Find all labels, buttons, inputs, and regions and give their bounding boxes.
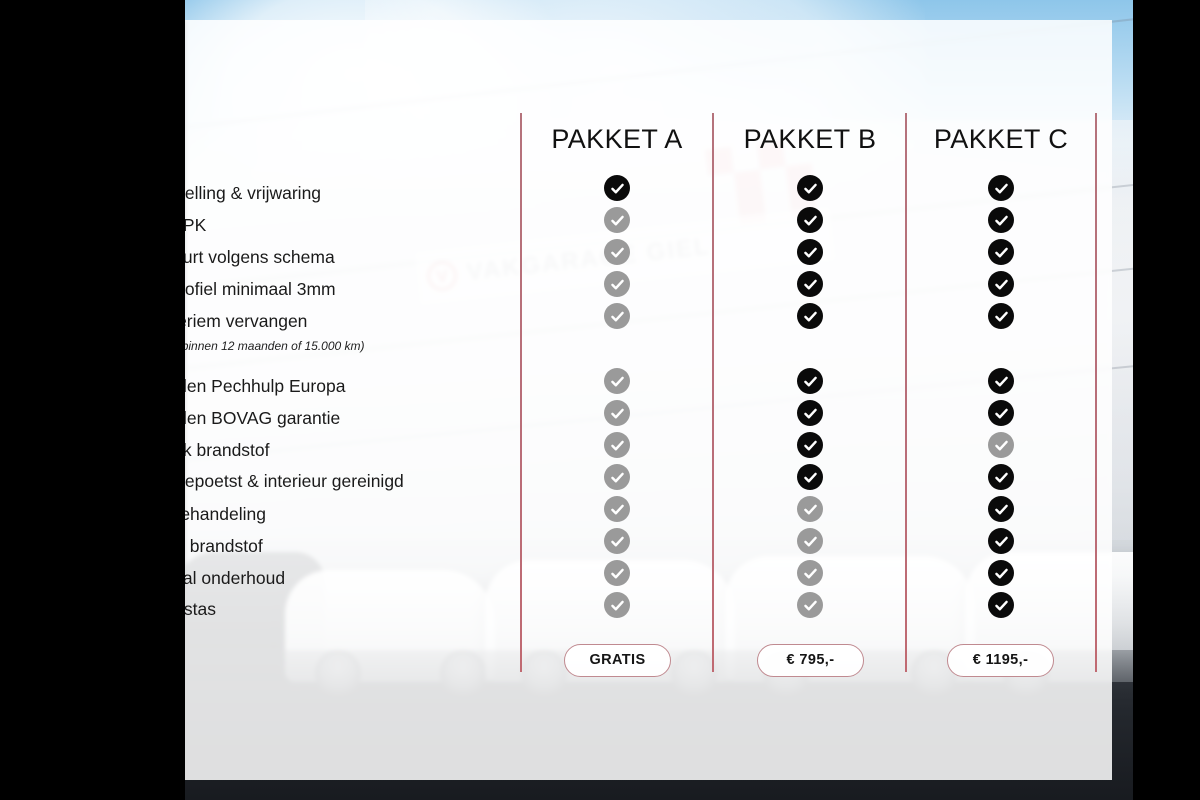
letterbox-left [0, 0, 185, 800]
check-circle-icon [797, 175, 823, 201]
check-circle-icon [797, 528, 823, 554]
check-circle-icon [988, 368, 1014, 394]
check-circle-icon [797, 271, 823, 297]
check-circle-icon [988, 432, 1014, 458]
column-header-pakket-b: PAKKET B [715, 118, 905, 160]
check-circle-icon [797, 496, 823, 522]
check-circle-icon [604, 271, 630, 297]
column-divider [520, 113, 522, 672]
check-circle-icon [604, 496, 630, 522]
check-circle-icon [988, 175, 1014, 201]
check-circle-icon [988, 400, 1014, 426]
column-header-pakket-a: PAKKET A [522, 118, 712, 160]
check-circle-icon [604, 464, 630, 490]
check-circle-icon [604, 368, 630, 394]
screenshot-stage: V VAKGARAGE GIEL PAKKET A PAKKET B PAKKE… [0, 0, 1200, 800]
column-divider [712, 113, 714, 672]
check-circle-icon [797, 432, 823, 458]
price-pill-pakket-a[interactable]: GRATIS [564, 644, 671, 677]
check-circle-icon [797, 207, 823, 233]
check-circle-icon [988, 592, 1014, 618]
check-circle-icon [797, 239, 823, 265]
check-circle-icon [604, 400, 630, 426]
check-circle-icon [988, 496, 1014, 522]
check-circle-icon [797, 400, 823, 426]
check-circle-icon [988, 207, 1014, 233]
check-circle-icon [604, 432, 630, 458]
price-pill-pakket-b[interactable]: € 795,- [757, 644, 864, 677]
check-circle-icon [988, 239, 1014, 265]
check-circle-icon [988, 528, 1014, 554]
check-circle-icon [604, 239, 630, 265]
check-circle-icon [797, 464, 823, 490]
check-circle-icon [988, 464, 1014, 490]
check-circle-icon [604, 592, 630, 618]
column-header-pakket-c: PAKKET C [906, 118, 1096, 160]
column-divider [905, 113, 907, 672]
check-circle-icon [604, 560, 630, 586]
check-circle-icon [988, 303, 1014, 329]
column-divider [1095, 113, 1097, 672]
check-circle-icon [604, 175, 630, 201]
check-circle-icon [988, 560, 1014, 586]
check-circle-icon [604, 528, 630, 554]
check-circle-icon [988, 271, 1014, 297]
price-pill-pakket-c[interactable]: € 1195,- [947, 644, 1054, 677]
check-circle-icon [797, 368, 823, 394]
check-circle-icon [604, 207, 630, 233]
check-circle-icon [604, 303, 630, 329]
check-circle-icon [797, 560, 823, 586]
check-circle-icon [797, 303, 823, 329]
letterbox-right [1133, 0, 1200, 800]
check-circle-icon [797, 592, 823, 618]
